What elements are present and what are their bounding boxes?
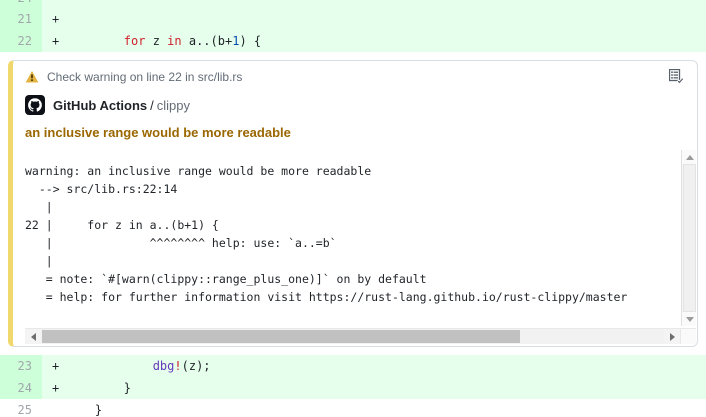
diff-code-cell: + for z in a..(b+1) { bbox=[42, 30, 706, 52]
diff-line-number[interactable]: 25 bbox=[0, 399, 42, 417]
alert-triangle-icon bbox=[25, 70, 39, 89]
checklist-icon[interactable] bbox=[669, 69, 685, 85]
code-token: for bbox=[124, 34, 146, 48]
compiler-output-text: warning: an inclusive range would be mor… bbox=[25, 162, 696, 306]
diff-line-number[interactable]: 22 bbox=[0, 30, 42, 52]
triangle-down-icon[interactable] bbox=[682, 312, 696, 326]
vertical-scroll-thumb[interactable] bbox=[683, 164, 696, 312]
code-token: a..(b bbox=[182, 34, 225, 48]
diff-marker: + bbox=[42, 356, 66, 376]
table-row: 24+ } bbox=[0, 377, 706, 399]
diff-table-bottom: 23+ dbg!(z);24+ }25 } bbox=[0, 355, 706, 417]
app-name: GitHub Actions bbox=[53, 98, 147, 113]
code-token: } bbox=[66, 403, 102, 417]
diff-code-cell: } bbox=[42, 399, 706, 417]
diff-line-number[interactable]: 23 bbox=[0, 355, 42, 377]
diff-annotation-page: 24 21+22+ for z in a..(b+1) { Check warn… bbox=[0, 0, 706, 417]
clipped-diff-row: 24 bbox=[0, 0, 706, 8]
check-annotation-warning: Check warning on line 22 in src/lib.rs bbox=[8, 60, 698, 347]
table-row: 23+ dbg!(z); bbox=[0, 355, 706, 377]
triangle-up-icon[interactable] bbox=[682, 150, 696, 164]
code-token: in bbox=[167, 34, 181, 48]
diff-code-cell: + } bbox=[42, 377, 706, 399]
annotation-container: Check warning on line 22 in src/lib.rs bbox=[0, 52, 706, 355]
table-row: 22+ for z in a..(b+1) { bbox=[0, 30, 706, 52]
annotation-message-title: an inclusive range would be more readabl… bbox=[13, 115, 697, 142]
annotation-source-row: GitHub Actions / clippy bbox=[13, 91, 697, 115]
code-token bbox=[66, 34, 124, 48]
github-mark-icon bbox=[25, 95, 45, 115]
diff-line-number[interactable]: 21 bbox=[0, 8, 42, 30]
annotation-output-pane: warning: an inclusive range would be mor… bbox=[25, 150, 696, 326]
horizontal-scroll-thumb[interactable] bbox=[42, 330, 520, 343]
clipped-line-number: 24 bbox=[0, 0, 42, 8]
diff-marker: + bbox=[42, 31, 66, 51]
triangle-left-icon[interactable] bbox=[25, 329, 41, 344]
diff-rows-bottom: 23+ dbg!(z);24+ }25 } bbox=[0, 355, 706, 417]
diff-line-number[interactable]: 24 bbox=[0, 377, 42, 399]
code-token: ) { bbox=[239, 34, 261, 48]
scrollbar-corner bbox=[680, 329, 696, 344]
diff-marker: + bbox=[42, 378, 66, 398]
name-separator: / bbox=[150, 98, 154, 113]
diff-rows-top: 21+22+ for z in a..(b+1) { bbox=[0, 8, 706, 52]
code-token: } bbox=[66, 381, 131, 395]
annotation-header: Check warning on line 22 in src/lib.rs bbox=[13, 61, 697, 91]
code-token: (z); bbox=[182, 359, 211, 373]
diff-marker: + bbox=[42, 9, 66, 29]
triangle-right-icon[interactable] bbox=[664, 329, 680, 344]
table-row: 21+ bbox=[0, 8, 706, 30]
clipped-line-code bbox=[42, 0, 706, 8]
check-warning-title: Check warning on line 22 in src/lib.rs bbox=[47, 69, 669, 85]
code-token: z bbox=[145, 34, 167, 48]
diff-table-top: 21+22+ for z in a..(b+1) { bbox=[0, 8, 706, 52]
code-token: dbg bbox=[153, 359, 175, 373]
diff-code-cell: + bbox=[42, 8, 706, 30]
horizontal-scrollbar[interactable] bbox=[25, 328, 696, 344]
job-name: clippy bbox=[157, 98, 190, 113]
code-token bbox=[66, 359, 153, 373]
diff-code-cell: + dbg!(z); bbox=[42, 355, 706, 377]
table-row: 25 } bbox=[0, 399, 706, 417]
code-token: ! bbox=[174, 359, 181, 373]
vertical-scrollbar[interactable] bbox=[681, 150, 696, 326]
